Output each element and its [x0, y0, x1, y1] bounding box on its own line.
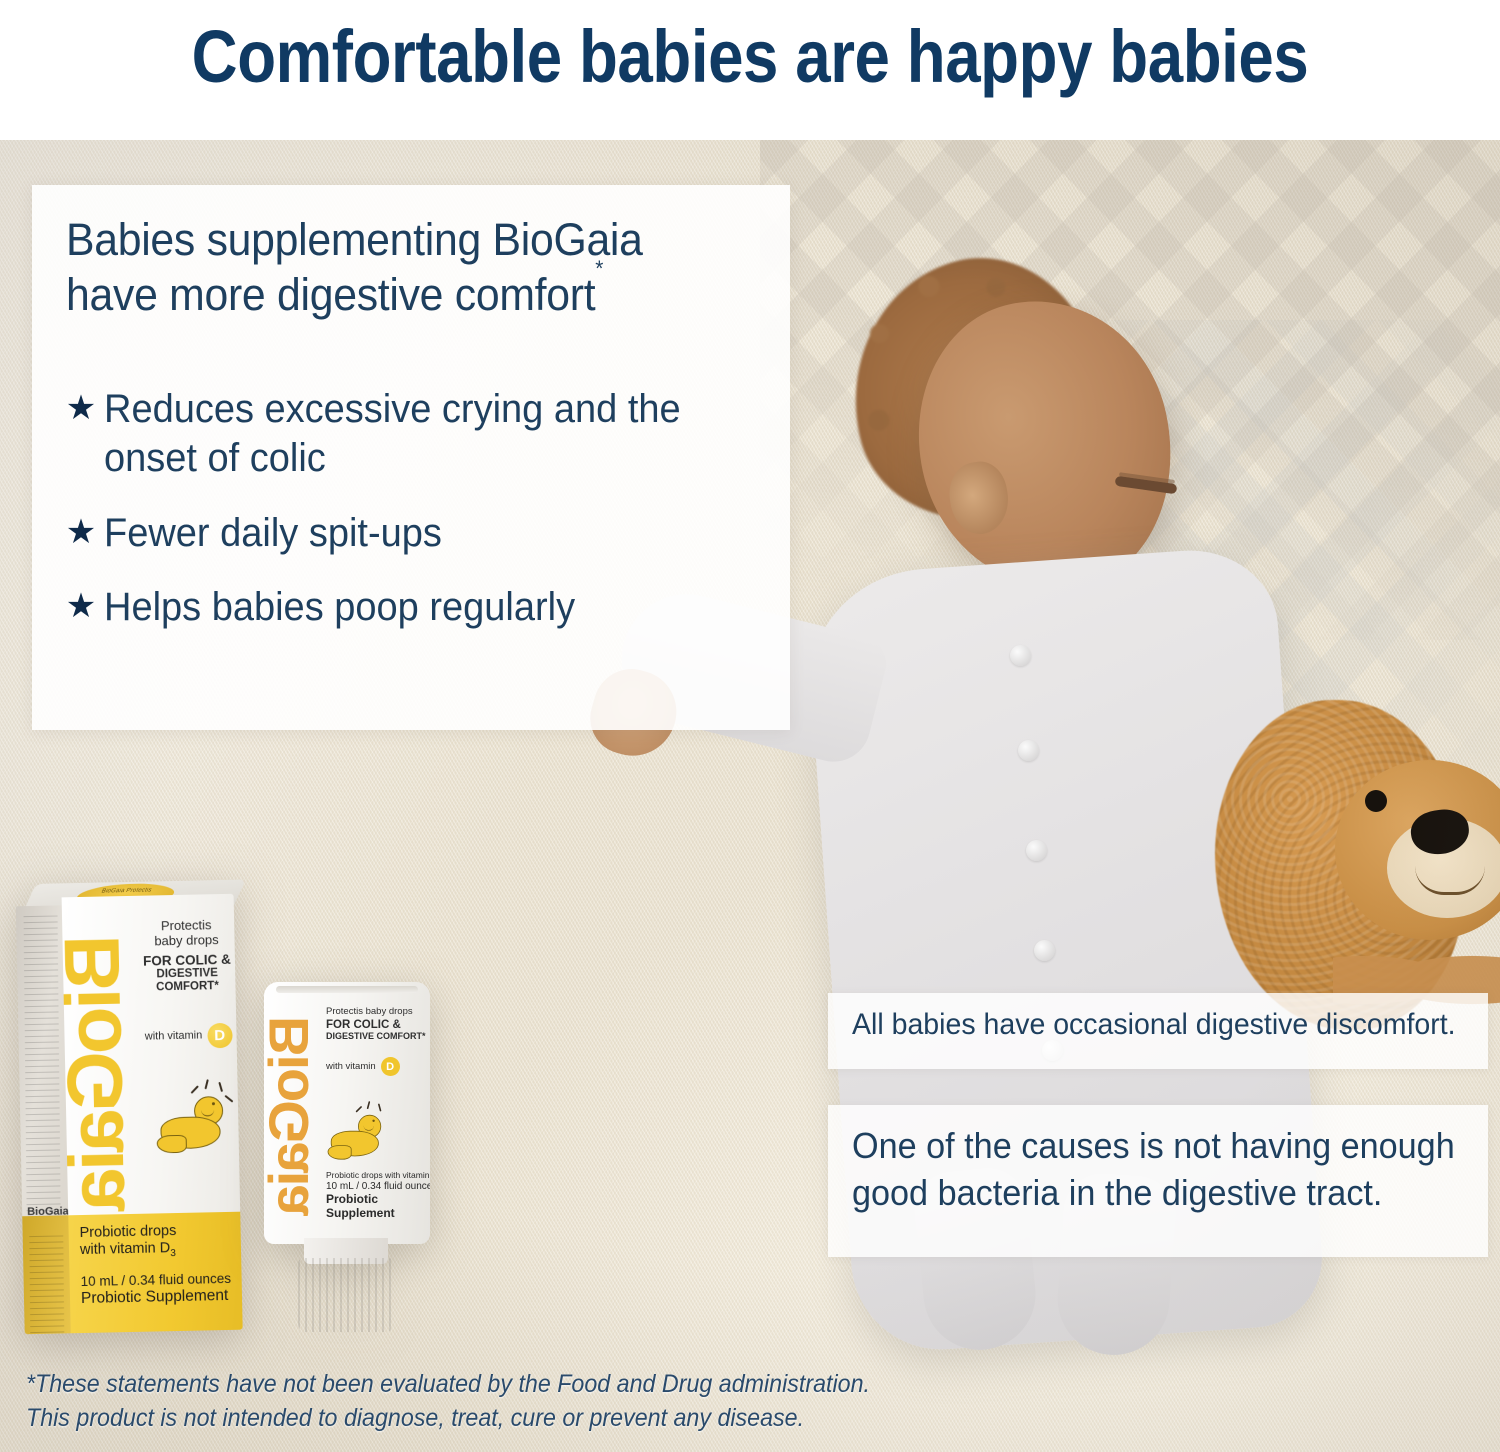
bottle-cap: [298, 1258, 394, 1332]
carton-side-brand: BioGaia: [27, 1205, 69, 1218]
vitamin-d-badge: D: [381, 1057, 400, 1076]
bottle-brand-wordmark: BioGaia: [264, 1016, 321, 1236]
disclaimer-line-2: This product is not intended to diagnose…: [26, 1402, 919, 1436]
caption-text: All babies have occasional digestive dis…: [852, 1007, 1456, 1043]
list-item: ★ Fewer daily spit-ups: [62, 509, 772, 558]
panel-heading: Babies supplementing BioGaia have more d…: [66, 213, 731, 323]
bottle-body: BioGaia Protectis baby drops FOR COLIC &…: [264, 982, 430, 1244]
onesie-button: [1018, 740, 1039, 761]
carton-band-probiotic-drops: Probiotic drops: [79, 1223, 176, 1241]
carton-side-fine-print: [24, 916, 61, 1216]
crawling-baby-icon: [326, 1110, 376, 1152]
carton-side-fine-print-lower: [29, 1236, 64, 1335]
list-item: ★ Reduces excessive crying and the onset…: [62, 385, 772, 483]
star-icon: ★: [62, 589, 100, 627]
vitamin-d-badge: D: [207, 1023, 233, 1049]
mascot-leg: [328, 1145, 352, 1159]
benefits-panel: Babies supplementing BioGaia have more d…: [32, 185, 790, 730]
fda-disclaimer: *These statements have not been evaluate…: [26, 1368, 919, 1435]
bottle-foot-line3: Probiotic Supplement: [326, 1192, 430, 1220]
benefits-list: ★ Reduces excessive crying and the onset…: [62, 385, 772, 658]
list-item-label: Reduces excessive crying and the onset o…: [104, 385, 739, 483]
bottle-front-copy: Protectis baby drops FOR COLIC & DIGESTI…: [326, 1006, 430, 1076]
star-icon: ★: [62, 391, 100, 429]
carton-band-vitamin-sub: 3: [170, 1248, 176, 1259]
carton-band-vitamin: with vitamin D: [80, 1241, 171, 1259]
caption-text: One of the causes is not having enough g…: [852, 1123, 1456, 1217]
carton-yellow-band: Probiotic drops with vitamin D3 10 mL / …: [68, 1212, 242, 1334]
onesie-button: [1034, 940, 1055, 961]
carton-band-supplement: Probiotic Supplement: [81, 1287, 233, 1308]
carton-baby-drops: baby drops: [140, 932, 232, 948]
carton-brand-text: BioGaia: [62, 934, 142, 1210]
footnote-marker: *: [595, 256, 603, 281]
carton-colic-claim: FOR COLIC & DIGESTIVE COMFORT*: [141, 952, 234, 995]
carton-protectis-line: Protectis baby drops: [140, 918, 233, 949]
caption-box-1: All babies have occasional digestive dis…: [828, 993, 1488, 1069]
bottle-comfort-line: DIGESTIVE COMFORT*: [326, 1031, 430, 1041]
mascot-leg: [157, 1135, 187, 1154]
bottle-colic-line: FOR COLIC &: [326, 1019, 430, 1031]
bottle-foot-line1: Probiotic drops with vitamin D: [326, 1170, 430, 1180]
panel-heading-text: Babies supplementing BioGaia have more d…: [66, 214, 643, 320]
bottle-protectis-line: Protectis baby drops: [326, 1006, 430, 1017]
carton-colic-line: FOR COLIC &: [141, 952, 233, 969]
carton-comfort-line: DIGESTIVE COMFORT*: [141, 967, 234, 995]
carton-band-line1: Probiotic drops with vitamin D3: [79, 1222, 232, 1262]
carton-with-vitamin-label: with vitamin: [145, 1030, 203, 1043]
onesie-button: [1026, 840, 1047, 861]
page-title: Comfortable babies are happy babies: [105, 4, 1395, 108]
bottle-with-vitamin-label: with vitamin: [326, 1061, 376, 1072]
teddy-eye: [1365, 790, 1387, 812]
list-item-label: Fewer daily spit-ups: [104, 509, 442, 558]
product-marketing-image: Comfortable babies are happy babies: [0, 0, 1500, 1452]
star-icon: ★: [62, 515, 100, 553]
onesie-button: [1010, 645, 1031, 666]
crawling-baby-icon: [154, 1090, 233, 1156]
caption-box-2: One of the causes is not having enough g…: [828, 1105, 1488, 1257]
carton-front-panel: BioGaia Protectis baby drops FOR COLIC &…: [62, 894, 243, 1334]
product-packaging: BioGaia Protectis BioGaia BioGaia Protec…: [8, 872, 478, 1342]
bottle-foot-line2: 10 mL / 0.34 fluid ounces: [326, 1181, 430, 1192]
product-bottle: BioGaia Protectis baby drops FOR COLIC &…: [258, 982, 436, 1332]
disclaimer-line-1: *These statements have not been evaluate…: [26, 1368, 919, 1402]
carton-vitamin-d: with vitamin D: [142, 1023, 235, 1050]
carton-band-volume: 10 mL / 0.34 fluid ounces: [80, 1271, 232, 1289]
list-item-label: Helps babies poop regularly: [104, 583, 575, 632]
carton-front-copy: Protectis baby drops FOR COLIC & DIGESTI…: [140, 918, 235, 1050]
bottle-vitamin-d: with vitamin D: [326, 1057, 430, 1076]
product-carton: BioGaia Protectis BioGaia BioGaia Protec…: [15, 880, 242, 1334]
bottle-brand-text: BioGaia: [264, 1016, 320, 1214]
bottle-footer-copy: Probiotic drops with vitamin D 10 mL / 0…: [326, 1170, 430, 1220]
bottle-top-seam: [276, 986, 418, 993]
list-item: ★ Helps babies poop regularly: [62, 583, 772, 632]
